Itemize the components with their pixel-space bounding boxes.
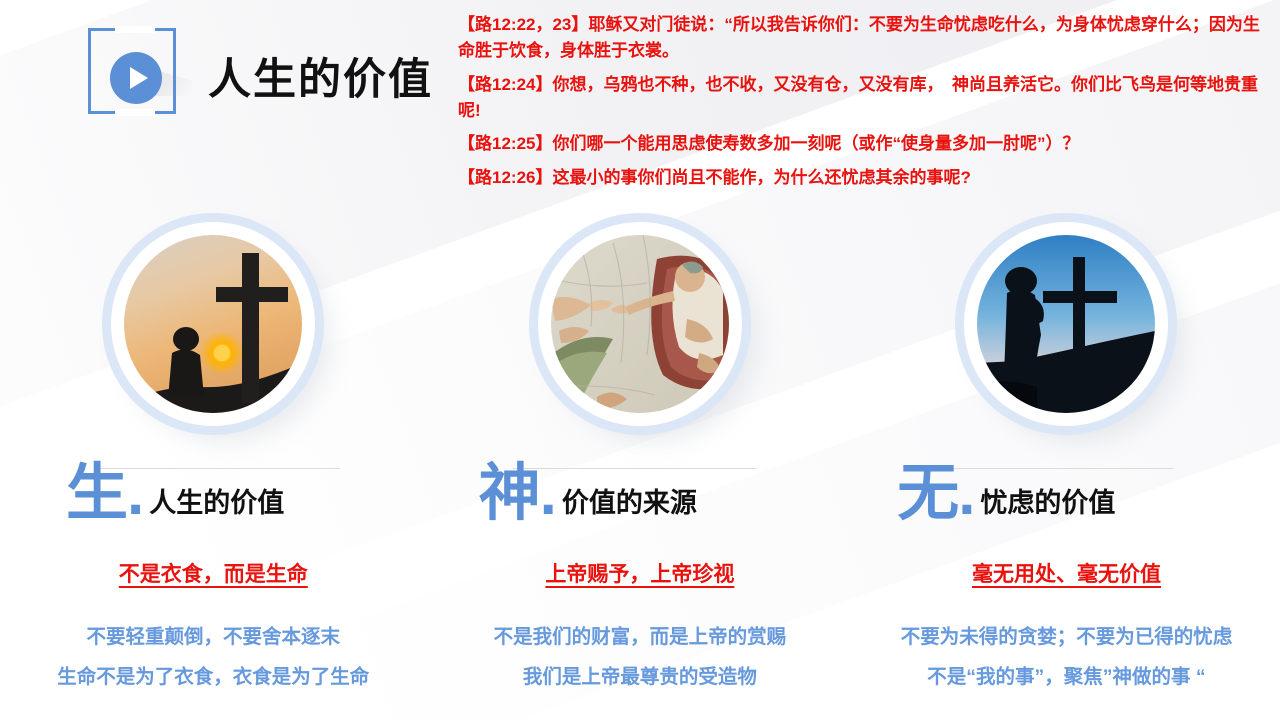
scripture-line: 【路12:22，23】耶稣又对门徒说：“所以我告诉你们：不要为生命忧虑吃什么，为… — [458, 12, 1270, 65]
photo-praying-at-cross-dusk — [977, 235, 1155, 413]
logo — [88, 28, 188, 123]
column-keyline: 毫无用处、毫无价值 — [972, 558, 1161, 588]
heading-label: 人生的价值 — [144, 481, 284, 524]
photo-frame — [538, 222, 742, 426]
column-body: 不要为未得的贪婪；不要为已得的忧虑 不是“我的事”，聚焦”神做的事 “ — [901, 618, 1233, 698]
play-triangle-icon — [130, 67, 148, 89]
column-body: 不要轻重颠倒，不要舍本逐末 生命不是为了衣食，衣食是为了生命 — [57, 618, 369, 698]
heading-big-char: 无 — [897, 465, 958, 524]
column-keyline: 不是衣食，而是生命 — [119, 558, 308, 588]
column-keyline: 上帝赐予，上帝珍视 — [545, 558, 734, 588]
heading-dot: . — [958, 465, 975, 524]
column-worry: 无 . 忧虑的价值 毫无用处、毫无价值 不要为未得的贪婪；不要为已得的忧虑 不是… — [853, 210, 1280, 720]
photo-creation-of-adam — [551, 235, 729, 413]
heading-label: 价值的来源 — [557, 481, 697, 524]
column-body: 不是我们的财富，而是上帝的赏赐 我们是上帝最尊贵的受造物 — [494, 618, 787, 698]
slide-root: 人生的价值 【路12:22，23】耶稣又对门徒说：“所以我告诉你们：不要为生命忧… — [0, 0, 1280, 720]
photo-kneeling-at-cross-sunset — [124, 235, 302, 413]
scripture-line: 【路12:24】你想，乌鸦也不种，也不收，又没有仓，又没有库， 神尚且养活它。你… — [458, 72, 1270, 125]
column-heading: 生 . 人生的价值 — [0, 465, 284, 524]
heading-dot: . — [127, 465, 144, 524]
photo-frame — [964, 222, 1168, 426]
play-button-icon — [110, 52, 162, 104]
body-line: 生命不是为了衣食，衣食是为了生命 — [57, 658, 369, 698]
body-line: 我们是上帝最尊贵的受造物 — [494, 658, 787, 698]
body-line: 不是我们的财富，而是上帝的赏赐 — [494, 618, 787, 658]
column-heading: 神 . 价值的来源 — [427, 465, 697, 524]
heading-dot: . — [540, 465, 557, 524]
heading-big-char: 生 — [66, 465, 127, 524]
heading-label: 忧虑的价值 — [975, 481, 1115, 524]
body-line: 不是“我的事”，聚焦”神做的事 “ — [901, 658, 1233, 698]
body-line: 不要为未得的贪婪；不要为已得的忧虑 — [901, 618, 1233, 658]
photo-frame — [111, 222, 315, 426]
scripture-block: 【路12:22，23】耶稣又对门徒说：“所以我告诉你们：不要为生命忧虑吃什么，为… — [458, 12, 1270, 198]
column-heading: 无 . 忧虑的价值 — [853, 465, 1115, 524]
content-columns: 生 . 人生的价值 不是衣食，而是生命 不要轻重颠倒，不要舍本逐末 生命不是为了… — [0, 210, 1280, 720]
heading-big-char: 神 — [479, 465, 540, 524]
page-title: 人生的价值 — [208, 45, 433, 107]
column-god: 神 . 价值的来源 上帝赐予，上帝珍视 不是我们的财富，而是上帝的赏赐 我们是上… — [427, 210, 854, 720]
body-line: 不要轻重颠倒，不要舍本逐末 — [57, 618, 369, 658]
column-life: 生 . 人生的价值 不是衣食，而是生命 不要轻重颠倒，不要舍本逐末 生命不是为了… — [0, 210, 427, 720]
scripture-line: 【路12:26】这最小的事你们尚且不能作，为什么还忧虑其余的事呢? — [458, 165, 1270, 191]
scripture-line: 【路12:25】你们哪一个能用思虑使寿数多加一刻呢（或作“使身量多加一肘呢”）？ — [458, 131, 1270, 157]
